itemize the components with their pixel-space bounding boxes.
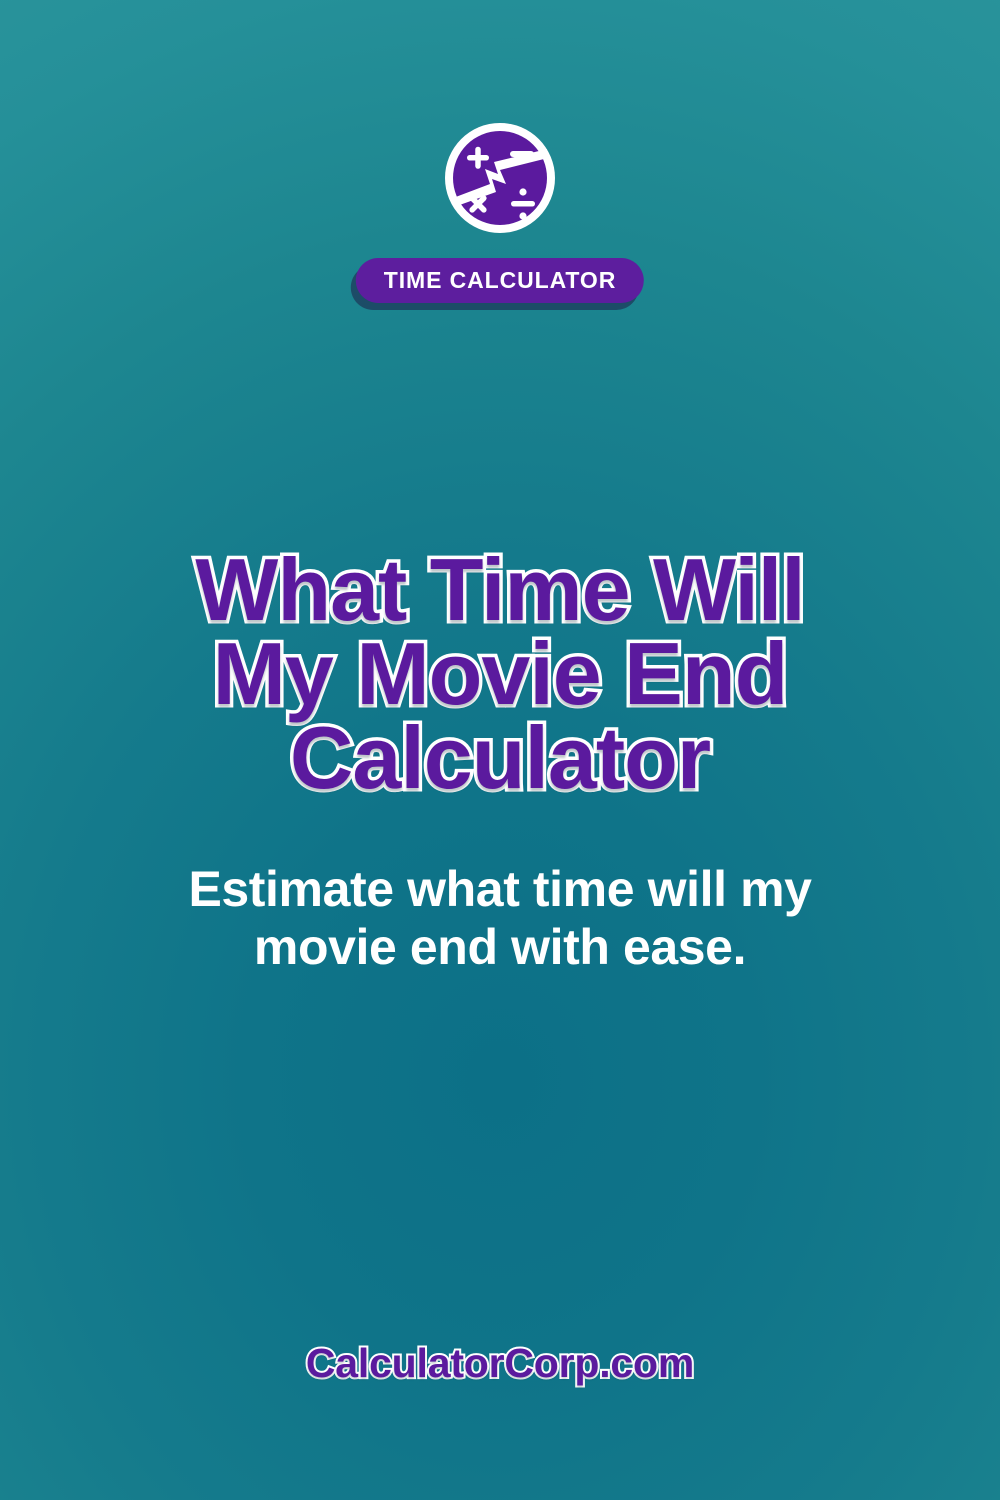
- calculator-logo: [438, 122, 562, 234]
- page-subtitle-line-2: movie end with ease.: [110, 918, 890, 976]
- site-url[interactable]: CalculatorCorp.com: [0, 1340, 1000, 1387]
- page-title: What Time Will My Movie End Calculator: [0, 548, 1000, 800]
- page-title-line-3: Calculator: [0, 716, 1000, 800]
- page-title-line-2: My Movie End: [0, 632, 1000, 716]
- page-subtitle: Estimate what time will my movie end wit…: [0, 860, 1000, 976]
- poster-canvas: TIME CALCULATOR What Time Will My Movie …: [0, 0, 1000, 1500]
- page-subtitle-line-1: Estimate what time will my: [110, 860, 890, 918]
- category-badge: TIME CALCULATOR: [356, 258, 644, 303]
- poster-content: TIME CALCULATOR What Time Will My Movie …: [0, 0, 1000, 1500]
- page-title-line-1: What Time Will: [0, 548, 1000, 632]
- calculator-logo-icon: [438, 122, 562, 234]
